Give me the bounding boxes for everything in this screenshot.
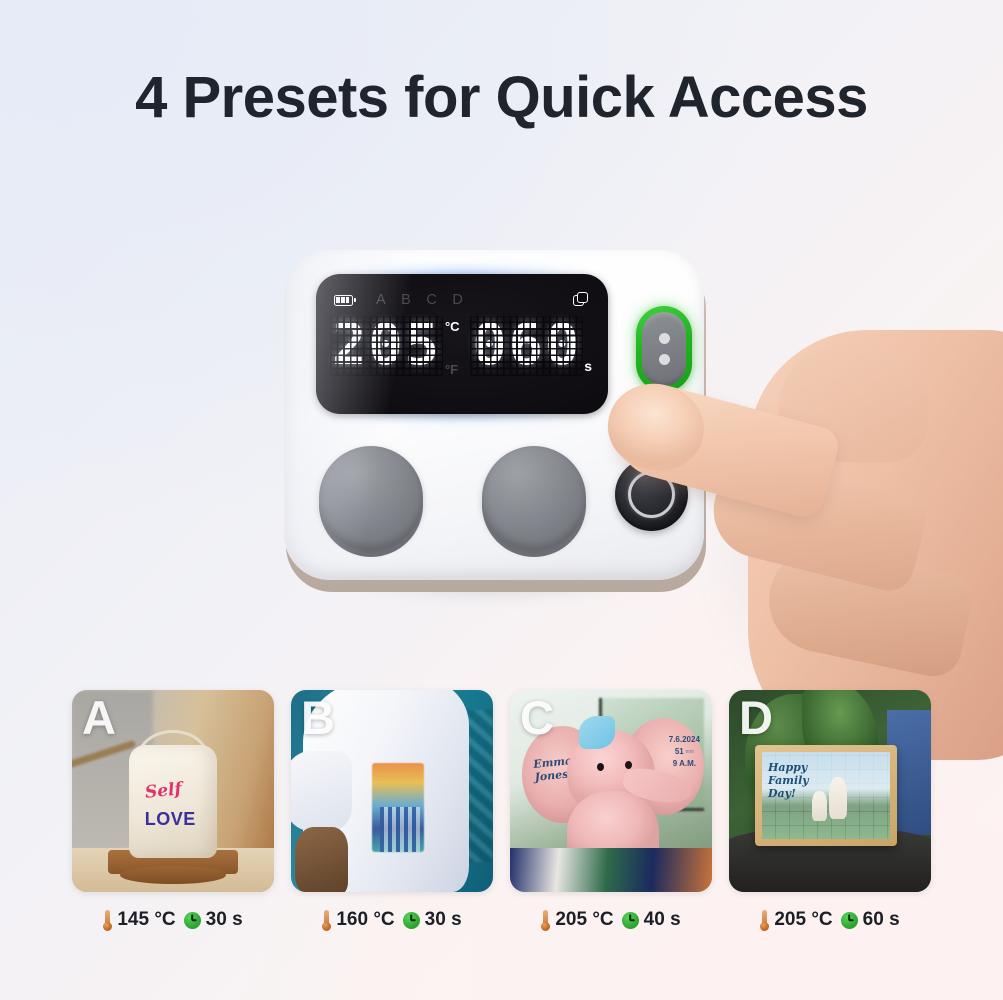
preset-button-face[interactable]	[642, 312, 686, 386]
preset-letter-a: A	[376, 292, 386, 308]
lcd-display: A B C D 205	[316, 274, 608, 414]
preset-caption-a: 145 °C 30 s	[72, 909, 274, 931]
temperature-units: °C °F	[445, 318, 460, 376]
preset-temperature: 205 °C	[774, 909, 832, 931]
preset-badge-a: A	[82, 692, 116, 744]
preset-temperature: 160 °C	[336, 909, 394, 931]
time-readout: 060 s	[472, 318, 592, 374]
ear-text-right: 7.6.2024 51 ▫▫▫ 9 A.M.	[669, 734, 700, 770]
knob-cap	[319, 446, 423, 550]
preset-time: 30 s	[425, 909, 462, 931]
preset-temperature: 205 °C	[555, 909, 613, 931]
display-readouts: 205 °C °F 060 s	[316, 318, 608, 376]
heat-press-device: A B C D 205	[276, 246, 716, 596]
temperature-value: 205	[332, 318, 441, 374]
time-value: 060	[472, 318, 581, 374]
time-spec: 40 s	[622, 909, 681, 931]
preset-caption-d: 205 °C 60 s	[729, 909, 931, 931]
puzzle-photo-text: Happy Family Day!	[768, 761, 809, 801]
temperature-spec: 205 °C	[760, 909, 832, 931]
preset-item-c[interactable]: Emma Jones 7.6.2024 51 ▫▫▫ 9 A.M. C 205 …	[510, 690, 712, 931]
promo-image: 4 Presets for Quick Access A B C D	[0, 0, 1003, 1000]
temperature-knob[interactable]	[319, 446, 423, 550]
preset-caption-c: 205 °C 40 s	[510, 909, 712, 931]
layers-icon	[573, 292, 590, 309]
preset-photo-c[interactable]: Emma Jones 7.6.2024 51 ▫▫▫ 9 A.M. C	[510, 690, 712, 892]
time-spec: 30 s	[184, 909, 243, 931]
unit-celsius: °C	[445, 320, 460, 333]
display-statusbar: A B C D	[316, 290, 608, 310]
preset-item-d[interactable]: Happy Family Day! D 205 °C 60 s	[729, 690, 931, 931]
time-knob[interactable]	[482, 446, 586, 550]
preset-item-b[interactable]: B 160 °C 30 s	[291, 690, 493, 931]
bag-art-line1: Self	[144, 779, 183, 803]
preset-photo-a[interactable]: Self LOVE A	[72, 690, 274, 892]
preset-letter-b: B	[401, 292, 411, 308]
temperature-spec: 160 °C	[322, 909, 394, 931]
device-body: A B C D 205	[284, 250, 704, 580]
preset-letter-d: D	[452, 292, 463, 308]
middle-finger	[704, 452, 931, 596]
preset-temperature: 145 °C	[117, 909, 175, 931]
preset-dot-icon	[659, 354, 670, 365]
temperature-spec: 205 °C	[541, 909, 613, 931]
preset-photo-d[interactable]: Happy Family Day! D	[729, 690, 931, 892]
thermometer-icon	[103, 910, 112, 931]
time-spec: 60 s	[841, 909, 900, 931]
battery-icon	[334, 295, 353, 306]
unit-fahrenheit: °F	[445, 363, 460, 376]
thermometer-icon	[760, 910, 769, 931]
clock-icon	[622, 912, 639, 929]
clock-icon	[184, 912, 201, 929]
preset-time: 40 s	[644, 909, 681, 931]
time-spec: 30 s	[403, 909, 462, 931]
power-ring-icon	[628, 471, 675, 518]
clock-icon	[403, 912, 420, 929]
preset-badge-b: B	[301, 692, 335, 744]
thermometer-icon	[541, 910, 550, 931]
preset-caption-b: 160 °C 30 s	[291, 909, 493, 931]
preset-time: 60 s	[863, 909, 900, 931]
preset-thumbnail-row: Self LOVE A 145 °C 30 s	[72, 690, 932, 931]
bag-art-line2: LOVE	[145, 809, 196, 830]
temperature-readout: 205 °C °F	[332, 318, 460, 376]
preset-photo-b[interactable]: B	[291, 690, 493, 892]
preset-badge-c: C	[520, 692, 554, 744]
temperature-spec: 145 °C	[103, 909, 175, 931]
preset-letters: A B C D	[376, 292, 463, 308]
preset-time: 30 s	[206, 909, 243, 931]
knuckle	[778, 342, 928, 462]
thermometer-icon	[322, 910, 331, 931]
preset-letter-c: C	[426, 292, 437, 308]
knob-cap	[482, 446, 586, 550]
preset-item-a[interactable]: Self LOVE A 145 °C 30 s	[72, 690, 274, 931]
ring-finger	[759, 538, 976, 681]
preset-button[interactable]	[636, 306, 692, 392]
unit-seconds: s	[584, 358, 592, 374]
power-button[interactable]	[615, 458, 688, 531]
clock-icon	[841, 912, 858, 929]
preset-dot-icon	[659, 333, 670, 344]
page-title: 4 Presets for Quick Access	[0, 66, 1003, 130]
preset-badge-d: D	[739, 692, 773, 744]
